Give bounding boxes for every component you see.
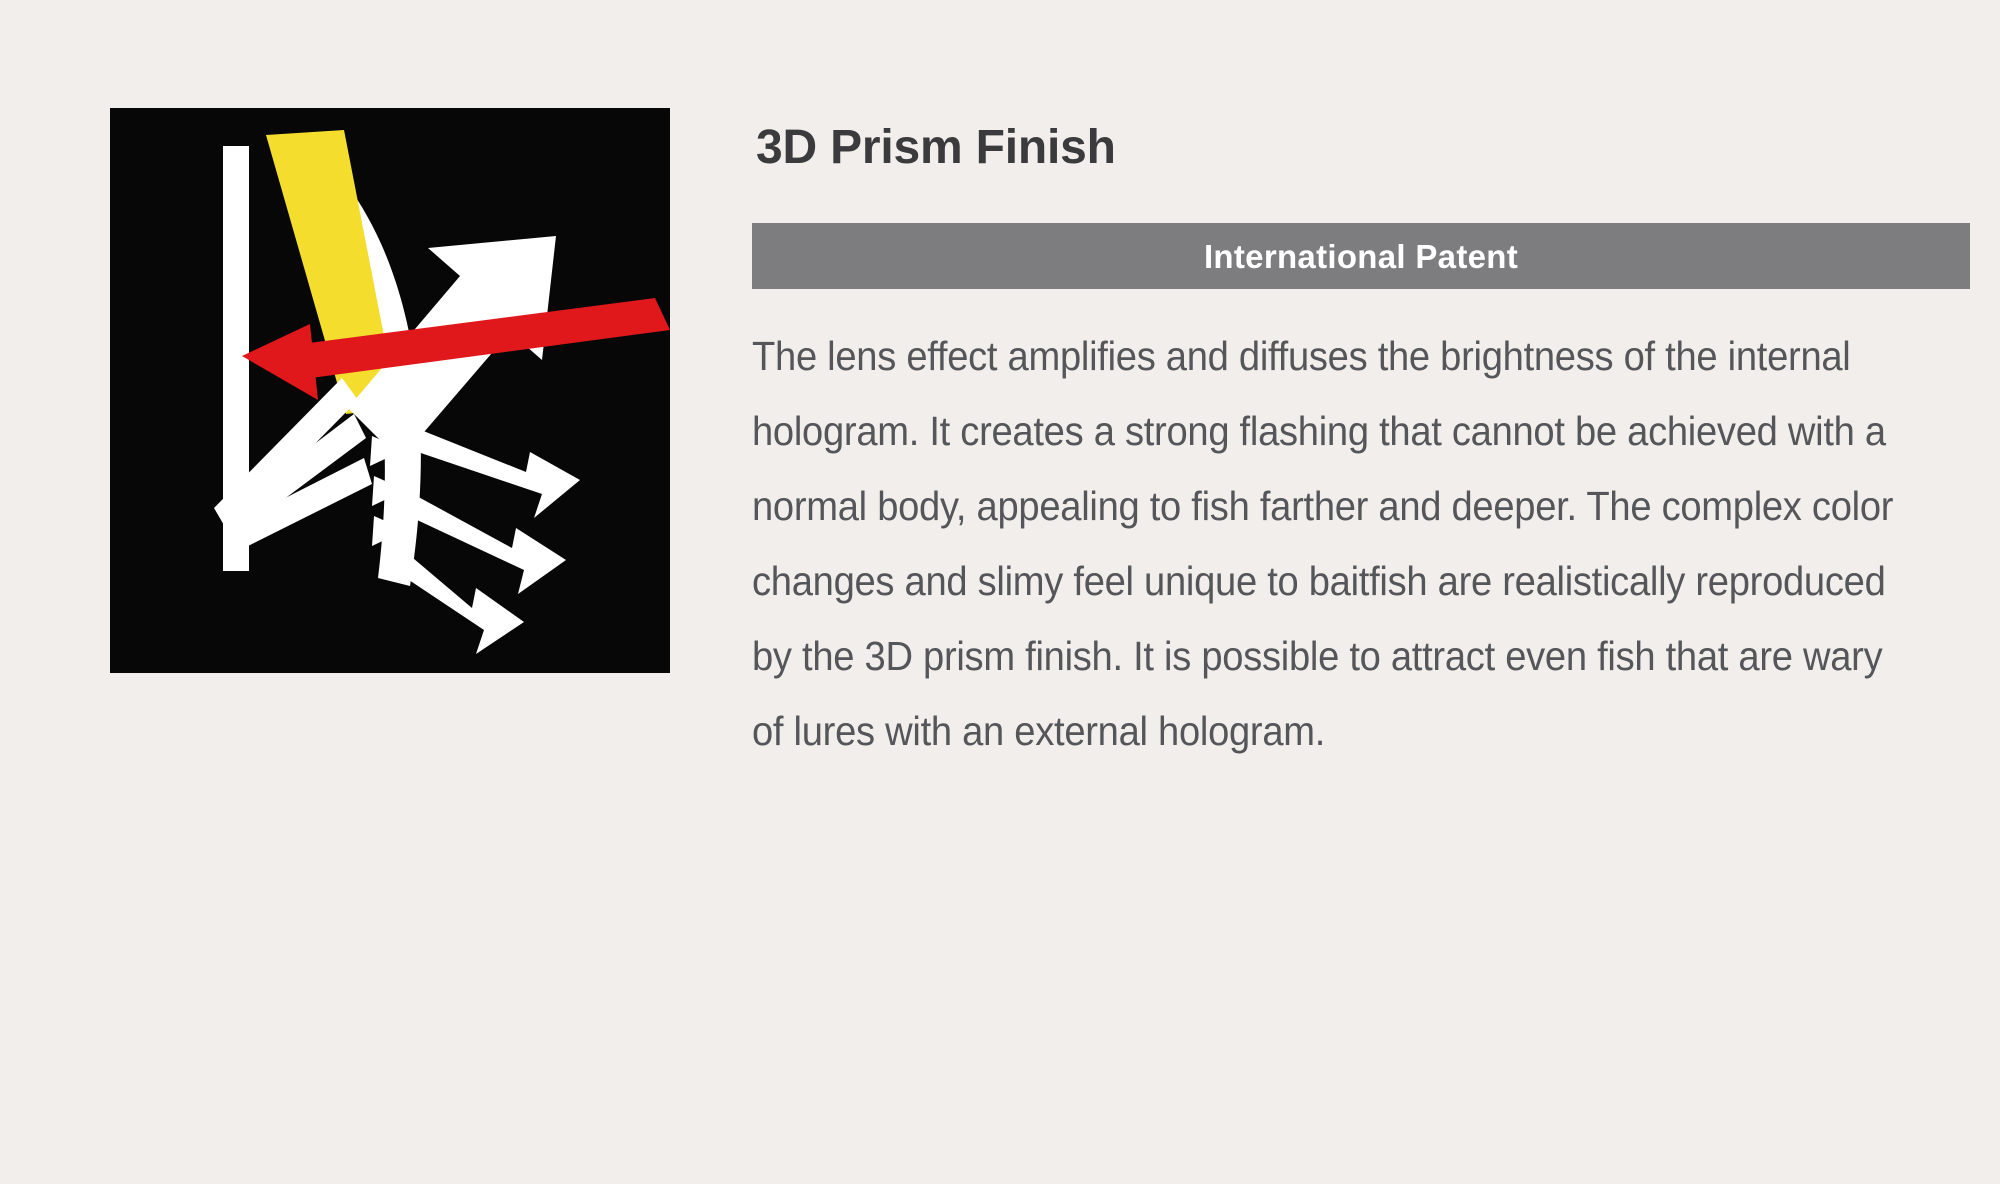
feature-section: 3D Prism Finish International Patent The…: [0, 0, 2000, 1184]
feature-text-column: 3D Prism Finish International Patent The…: [752, 120, 1972, 810]
diagram-canvas: [110, 108, 670, 673]
status-badge: International Patent: [752, 223, 1970, 289]
prism-light-diffusion-diagram: [110, 108, 670, 673]
page-title: 3D Prism Finish: [752, 120, 1972, 175]
patent-banner-label: International Patent: [1204, 240, 1518, 273]
feature-description: The lens effect amplifies and diffuses t…: [752, 319, 1894, 769]
